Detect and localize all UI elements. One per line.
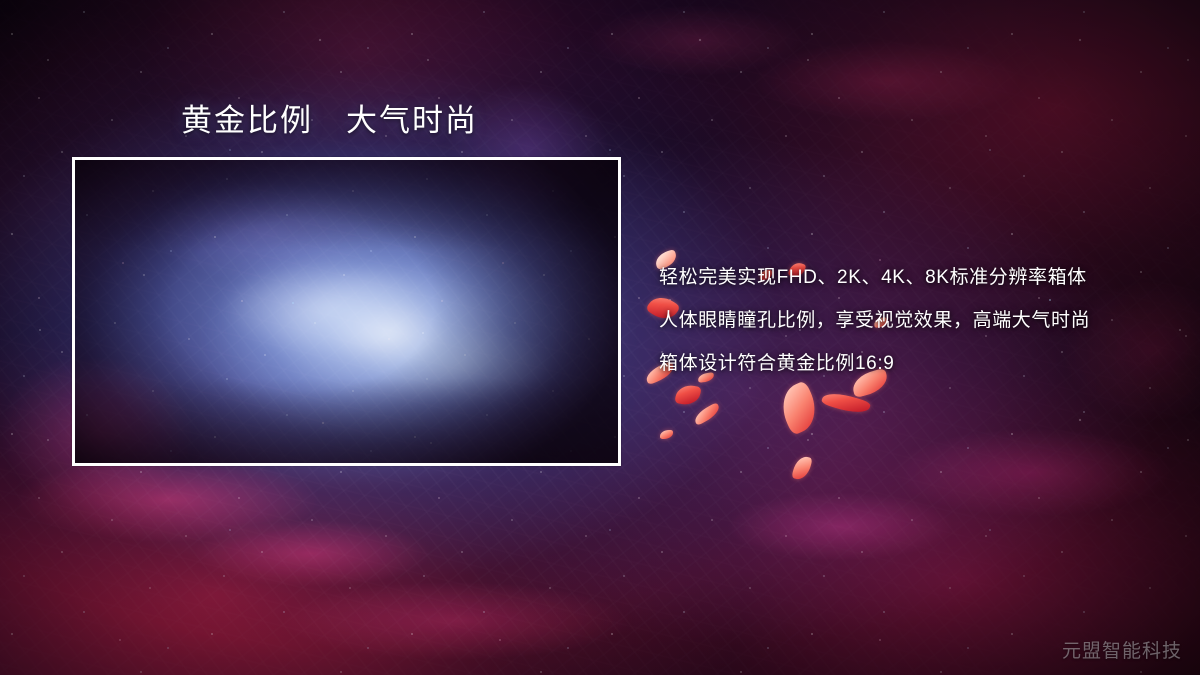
company-watermark: 元盟智能科技 xyxy=(1062,636,1182,663)
panel-starfield-bright xyxy=(75,160,618,463)
panel-scene xyxy=(75,160,618,463)
feature-line-1: 轻松完美实现FHD、2K、4K、8K标准分辨率箱体 xyxy=(659,256,1159,299)
feature-line-3: 箱体设计符合黄金比例16:9 xyxy=(659,342,1159,385)
nebula-preview-panel[interactable] xyxy=(72,157,621,466)
page-title: 黄金比例 大气时尚 xyxy=(181,101,478,141)
feature-description: 轻松完美实现FHD、2K、4K、8K标准分辨率箱体 人体眼睛瞳孔比例，享受视觉效… xyxy=(659,256,1159,385)
presentation-slide: 黄金比例 大气时尚 轻松完美实现FHD、2K、4K、8K标准分辨率箱体 人体眼睛… xyxy=(0,0,1200,675)
feature-line-2: 人体眼睛瞳孔比例，享受视觉效果，高端大气时尚 xyxy=(659,299,1159,342)
panel-inner xyxy=(75,160,618,463)
